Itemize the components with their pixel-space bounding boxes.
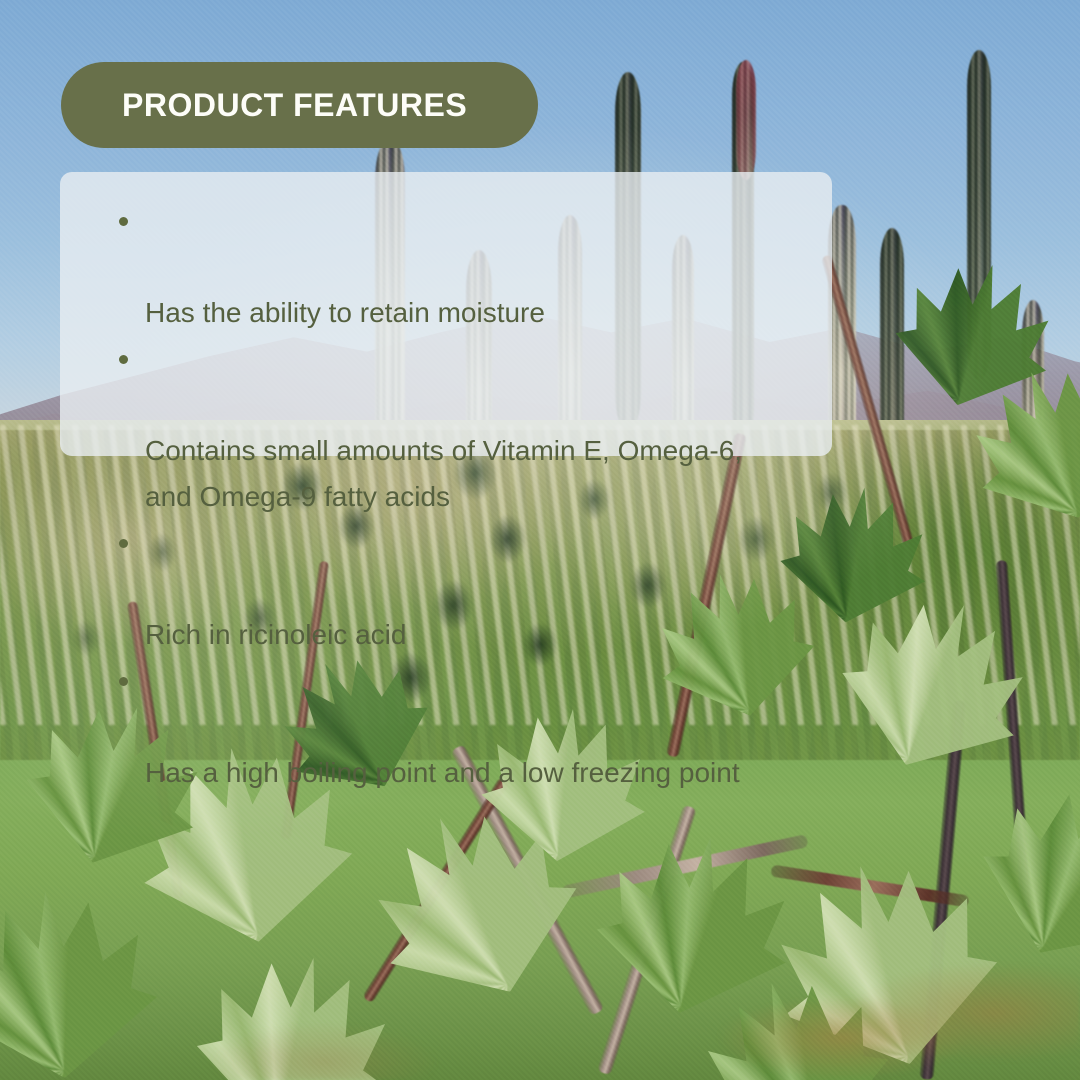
feature-list-item: Has the ability to retain moisture [90,198,802,336]
feature-list-item: Rich in ricinoleic acid [90,520,802,658]
features-panel: Has the ability to retain moisture Conta… [60,172,832,456]
feature-list-item: Has a high boiling point and a low freez… [90,658,802,796]
feature-text: Has the ability to retain moisture [145,297,545,328]
product-features-title-badge: PRODUCT FEATURES [61,62,538,148]
bullet-icon [119,677,128,686]
bullet-icon [119,539,128,548]
flower-spike [736,60,756,180]
feature-text: Contains small amounts of Vitamin E, Ome… [145,435,742,512]
feature-text: Rich in ricinoleic acid [145,619,406,650]
feature-list-item: Contains small amounts of Vitamin E, Ome… [90,336,802,520]
feature-text: Has a high boiling point and a low freez… [145,757,740,788]
features-list: Has the ability to retain moisture Conta… [90,198,802,796]
soil-ground [0,930,1080,1080]
poster-canvas: PRODUCT FEATURES Has the ability to reta… [0,0,1080,1080]
page-title: PRODUCT FEATURES [122,87,467,124]
bullet-icon [119,217,128,226]
bullet-icon [119,355,128,364]
